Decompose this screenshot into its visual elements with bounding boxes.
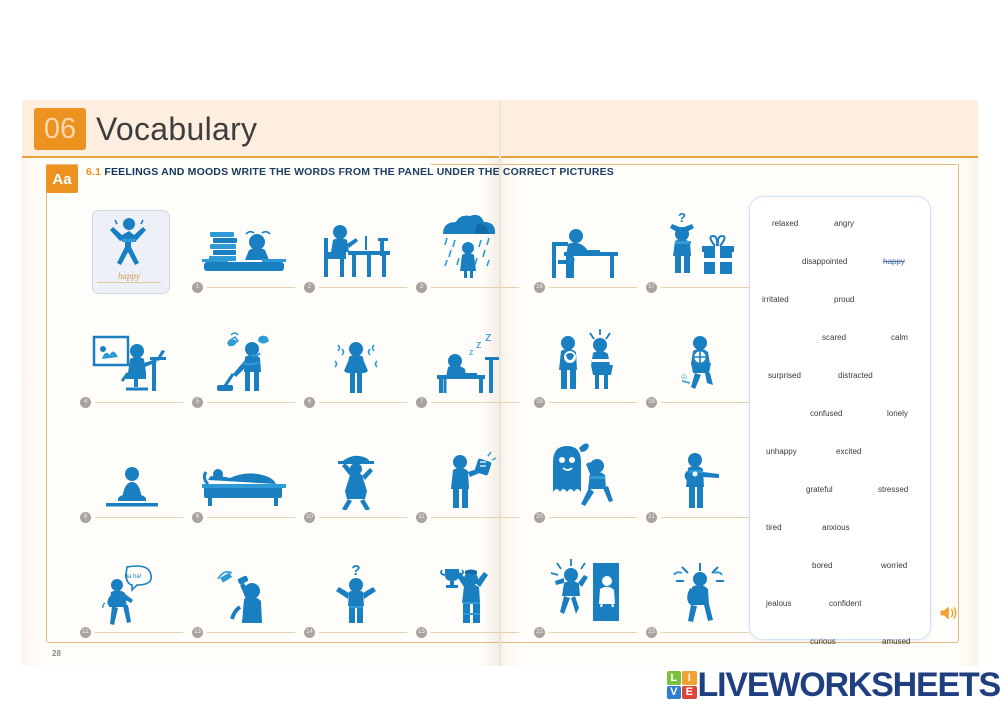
word-chip-jealous[interactable]: jealous bbox=[766, 599, 791, 608]
answer-input-15[interactable] bbox=[431, 632, 519, 633]
answer-input-4[interactable] bbox=[95, 402, 183, 403]
word-chip-angry[interactable]: angry bbox=[834, 219, 854, 228]
picture-cell-10: 10 bbox=[304, 430, 407, 530]
live-tile-i: I bbox=[682, 671, 697, 685]
picture-cell-21: 21 bbox=[646, 430, 749, 530]
svg-text:☹: ☹ bbox=[681, 374, 687, 381]
instruction-block: Aa 6.1 FEELINGS AND MOODS WRITE THE WORD… bbox=[46, 165, 961, 193]
picture-cell-0: happy bbox=[92, 210, 170, 294]
picture-cell-14: ? 14 bbox=[304, 545, 407, 645]
svg-text:ha ha!: ha ha! bbox=[124, 574, 141, 580]
question-number-badge: 9 bbox=[192, 512, 203, 523]
liveworksheets-logo[interactable]: LIVE LIVEWORKSHEETS bbox=[667, 663, 1000, 707]
question-number-badge: 23 bbox=[646, 627, 657, 638]
word-chip-unhappy[interactable]: unhappy bbox=[766, 447, 797, 456]
person-shivering-icon bbox=[304, 315, 407, 395]
person-lying-on-sofa-icon bbox=[192, 430, 295, 510]
instruction-topic: FEELINGS AND MOODS bbox=[104, 166, 228, 178]
word-chip-scared[interactable]: scared bbox=[822, 333, 846, 342]
answer-row-1: 1 bbox=[192, 280, 295, 294]
answer-row-16: 16 bbox=[534, 280, 637, 294]
page-number: 28 bbox=[52, 649, 61, 658]
answer-row-11: 11 bbox=[416, 510, 519, 524]
picture-cell-11: 11 bbox=[416, 430, 519, 530]
word-chip-amused[interactable]: amused bbox=[882, 637, 910, 646]
question-number-badge: 19 bbox=[646, 397, 657, 408]
answer-row-21: 21 bbox=[646, 510, 749, 524]
word-chip-bored[interactable]: bored bbox=[812, 561, 832, 570]
picture-cell-3: 3 bbox=[416, 200, 519, 300]
answer-input-14[interactable] bbox=[319, 632, 407, 633]
word-chip-disappointed[interactable]: disappointed bbox=[802, 257, 847, 266]
word-chip-excited[interactable]: excited bbox=[836, 447, 861, 456]
answer-input-2[interactable] bbox=[319, 287, 407, 288]
answer-row-7: 7 bbox=[416, 395, 519, 409]
answer-input-20[interactable] bbox=[549, 517, 637, 518]
speaker-icon[interactable] bbox=[938, 604, 958, 622]
word-chip-happy[interactable]: happy bbox=[883, 257, 905, 266]
picture-cell-23: 23 bbox=[646, 545, 749, 645]
person-vacuum-cleaner-icon bbox=[192, 315, 295, 395]
exercise-number: 6.1 bbox=[86, 166, 101, 178]
answer-row-13: 13 bbox=[192, 625, 295, 639]
person-head-pain-stressed-icon bbox=[646, 545, 749, 625]
question-number-badge: 15 bbox=[416, 627, 427, 638]
answer-row-6: 6 bbox=[304, 395, 407, 409]
answer-input-6[interactable] bbox=[319, 402, 407, 403]
person-eating-at-table-icon bbox=[304, 200, 407, 280]
answer-row-4: 4 bbox=[80, 395, 183, 409]
answer-row-10: 10 bbox=[304, 510, 407, 524]
page-title: Vocabulary bbox=[96, 108, 257, 150]
picture-cell-12: ha ha! 12 bbox=[80, 545, 183, 645]
answer-row-18: 18 bbox=[534, 395, 637, 409]
instruction-body: WRITE THE WORDS FROM THE PANEL UNDER THE… bbox=[228, 166, 614, 178]
answer-row-12: 12 bbox=[80, 625, 183, 639]
svg-text:z: z bbox=[476, 339, 482, 351]
answer-input-8[interactable] bbox=[95, 517, 183, 518]
person-laughing-haha-icon: ha ha! bbox=[80, 545, 183, 625]
unit-number-badge: 06 bbox=[34, 108, 86, 150]
picture-cell-9: 9 bbox=[192, 430, 295, 530]
answer-row-0: happy bbox=[97, 275, 161, 289]
word-chip-distracted[interactable]: distracted bbox=[838, 371, 873, 380]
person-meditating-icon bbox=[80, 430, 183, 510]
ghost-chasing-person-icon bbox=[534, 430, 637, 510]
answer-input-23[interactable] bbox=[661, 632, 749, 633]
question-number-badge: 5 bbox=[192, 397, 203, 408]
picture-cell-18: 18 bbox=[534, 315, 637, 415]
question-number-badge: 3 bbox=[416, 282, 427, 293]
picture-cell-22: 22 bbox=[534, 545, 637, 645]
answer-input-13[interactable] bbox=[207, 632, 295, 633]
picture-cell-2: 2 bbox=[304, 200, 407, 300]
aa-icon: Aa bbox=[46, 165, 78, 193]
word-chip-lonely[interactable]: lonely bbox=[887, 409, 908, 418]
answer-row-3: 3 bbox=[416, 280, 519, 294]
answer-input-3[interactable] bbox=[431, 287, 519, 288]
answer-input-12[interactable] bbox=[95, 632, 183, 633]
person-kicking-ball-sad-icon: ☹ bbox=[646, 315, 749, 395]
worksheet-page: 06 Vocabulary Aa 6.1 FEELINGS AND MOODS … bbox=[0, 0, 1000, 707]
picture-cell-19: ☹ 19 bbox=[646, 315, 749, 415]
question-number-badge: 16 bbox=[534, 282, 545, 293]
instruction-text: 6.1 FEELINGS AND MOODS WRITE THE WORDS F… bbox=[86, 165, 614, 179]
answer-row-17: 17 bbox=[646, 280, 749, 294]
liveworksheets-wordmark: LIVEWORKSHEETS bbox=[698, 668, 1000, 702]
word-chip-confident[interactable]: confident bbox=[829, 599, 861, 608]
answer-input-19[interactable] bbox=[661, 402, 749, 403]
word-chip-proud[interactable]: proud bbox=[834, 295, 854, 304]
picture-cell-16: 16 bbox=[534, 200, 637, 300]
question-number-badge: 7 bbox=[416, 397, 427, 408]
svg-text:z: z bbox=[485, 333, 492, 344]
question-number-badge: 22 bbox=[534, 627, 545, 638]
person-pointing-annoyed-icon bbox=[646, 430, 749, 510]
answer-input-0[interactable]: happy bbox=[97, 282, 161, 283]
person-startled-at-door-icon bbox=[534, 545, 637, 625]
picture-cell-6: 6 bbox=[304, 315, 407, 415]
person-slumped-at-desk-icon bbox=[534, 200, 637, 280]
person-looking-at-phone-icon bbox=[416, 430, 519, 510]
answer-row-2: 2 bbox=[304, 280, 407, 294]
answer-input-17[interactable] bbox=[661, 287, 749, 288]
person-jumping-arms-up-icon bbox=[93, 211, 165, 269]
live-tile-l: L bbox=[667, 671, 682, 685]
answer-input-18[interactable] bbox=[549, 402, 637, 403]
word-chip-surprised[interactable]: surprised bbox=[768, 371, 801, 380]
live-logo-tiles: LIVE bbox=[667, 671, 697, 699]
svg-text:?: ? bbox=[351, 562, 360, 579]
answer-input-9[interactable] bbox=[207, 517, 295, 518]
word-chip-confused[interactable]: confused bbox=[810, 409, 842, 418]
word-chip-irritated[interactable]: irritated bbox=[762, 295, 789, 304]
answer-row-19: 19 bbox=[646, 395, 749, 409]
question-number-badge: 21 bbox=[646, 512, 657, 523]
answer-row-22: 22 bbox=[534, 625, 637, 639]
picture-cell-20: 20 bbox=[534, 430, 637, 530]
picture-cell-8: 8 bbox=[80, 430, 183, 530]
question-number-badge: 2 bbox=[304, 282, 315, 293]
person-question-mark-icon: ? bbox=[304, 545, 407, 625]
person-sleeping-at-desk-icon: z z z bbox=[416, 315, 519, 395]
two-people-jealousy-icon bbox=[534, 315, 637, 395]
person-at-computer-desk-icon bbox=[80, 315, 183, 395]
question-number-badge: 4 bbox=[80, 397, 91, 408]
word-chip-relaxed[interactable]: relaxed bbox=[772, 219, 798, 228]
picture-cell-15: 15 bbox=[416, 545, 519, 645]
answer-input-11[interactable] bbox=[431, 517, 519, 518]
word-chip-curious[interactable]: curious bbox=[810, 637, 836, 646]
person-gift-question-mark-icon: ? bbox=[646, 200, 749, 280]
question-number-badge: 10 bbox=[304, 512, 315, 523]
word-chip-grateful[interactable]: grateful bbox=[806, 485, 833, 494]
question-number-badge: 6 bbox=[304, 397, 315, 408]
picture-cell-5: 5 bbox=[192, 315, 295, 415]
picture-cell-4: 4 bbox=[80, 315, 183, 415]
answer-input-16[interactable] bbox=[549, 287, 637, 288]
answer-row-15: 15 bbox=[416, 625, 519, 639]
answer-text: happy bbox=[118, 271, 140, 281]
answer-input-5[interactable] bbox=[207, 402, 295, 403]
svg-text:?: ? bbox=[678, 210, 686, 225]
woman-posing-hat-icon bbox=[304, 430, 407, 510]
answer-input-22[interactable] bbox=[549, 632, 637, 633]
question-number-badge: 17 bbox=[646, 282, 657, 293]
question-number-badge: 18 bbox=[534, 397, 545, 408]
word-chip-anxious[interactable]: anxious bbox=[822, 523, 850, 532]
picture-cell-17: ? 17 bbox=[646, 200, 749, 300]
answer-input-7[interactable] bbox=[431, 402, 519, 403]
question-number-badge: 13 bbox=[192, 627, 203, 638]
answer-input-1[interactable] bbox=[207, 287, 295, 288]
answer-row-9: 9 bbox=[192, 510, 295, 524]
word-chip-tired[interactable]: tired bbox=[766, 523, 782, 532]
person-books-stack-desk-icon bbox=[192, 200, 295, 280]
question-number-badge: 12 bbox=[80, 627, 91, 638]
svg-text:z: z bbox=[469, 347, 474, 357]
answer-row-8: 8 bbox=[80, 510, 183, 524]
person-throwing-object-icon bbox=[192, 545, 295, 625]
person-holding-trophy-icon bbox=[416, 545, 519, 625]
picture-cell-13: 13 bbox=[192, 545, 295, 645]
question-number-badge: 14 bbox=[304, 627, 315, 638]
question-number-badge: 1 bbox=[192, 282, 203, 293]
live-tile-e: E bbox=[682, 686, 697, 700]
answer-row-5: 5 bbox=[192, 395, 295, 409]
answer-row-23: 23 bbox=[646, 625, 749, 639]
word-chip-calm[interactable]: calm bbox=[891, 333, 908, 342]
answer-input-10[interactable] bbox=[319, 517, 407, 518]
question-number-badge: 11 bbox=[416, 512, 427, 523]
picture-cell-7: z z z 7 bbox=[416, 315, 519, 415]
book-spread: 06 Vocabulary Aa 6.1 FEELINGS AND MOODS … bbox=[22, 100, 978, 666]
picture-cell-1: 1 bbox=[192, 200, 295, 300]
word-chip-worried[interactable]: worried bbox=[881, 561, 907, 570]
answer-row-20: 20 bbox=[534, 510, 637, 524]
word-chip-stressed[interactable]: stressed bbox=[878, 485, 908, 494]
answer-input-21[interactable] bbox=[661, 517, 749, 518]
live-tile-v: V bbox=[667, 686, 682, 700]
word-bank-panel: relaxedangrydisappointedhappyirritatedpr… bbox=[749, 196, 931, 640]
question-number-badge: 20 bbox=[534, 512, 545, 523]
answer-row-14: 14 bbox=[304, 625, 407, 639]
person-rain-cloud-icon bbox=[416, 200, 519, 280]
question-number-badge: 8 bbox=[80, 512, 91, 523]
